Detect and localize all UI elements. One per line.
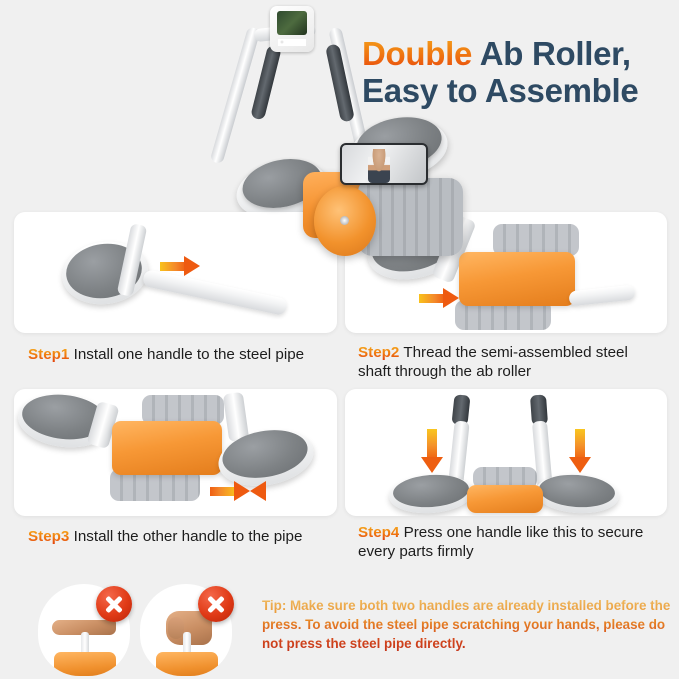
step1-steel-pipe	[142, 269, 288, 316]
step-4-caption: Step4 Press one handle like this to secu…	[358, 523, 663, 562]
step-3-card	[14, 389, 337, 516]
infographic-page: Double Ab Roller, Easy to Assemble	[0, 0, 679, 679]
step-1-text: Install one handle to the steel pipe	[74, 346, 305, 363]
step2-roller-core	[459, 252, 575, 306]
step4-arrow-down-left-icon	[421, 429, 443, 475]
step3-roller-core	[112, 421, 222, 475]
red-x-badge-icon-1	[96, 586, 132, 622]
hero-title-line-1: Double Ab Roller,	[362, 36, 667, 73]
step-4-text: Press one handle like this to secure eve…	[358, 524, 643, 560]
step-1-tag: Step1	[28, 346, 69, 363]
hero-title-line-2: Easy to Assemble	[362, 73, 667, 110]
step-2-text: Thread the semi-assembled steel shaft th…	[358, 344, 628, 380]
counter-buttons	[278, 39, 306, 46]
step-4-card	[345, 389, 667, 516]
step-2-caption: Step2 Thread the semi-assembled steel sh…	[358, 343, 663, 382]
step4-roller-core	[467, 485, 543, 513]
step2-steel-pipe	[568, 285, 635, 307]
step-3-tag: Step3	[28, 528, 69, 545]
warning-roller-base-1	[54, 652, 116, 676]
step-1-caption: Step1 Install one handle to the steel pi…	[28, 345, 338, 364]
lcd-screen	[277, 11, 307, 35]
red-x-badge-icon-2	[198, 586, 234, 622]
hero-arm-left	[210, 26, 261, 164]
step-3-text: Install the other handle to the pipe	[74, 528, 303, 545]
warning-roller-base-2	[156, 652, 218, 676]
hero-title-accent-word: Double	[362, 35, 472, 72]
tip-text: Tip: Make sure both two handles are alre…	[262, 596, 672, 653]
phone-holder-with-phone	[340, 143, 428, 185]
hero-wheel-side-cap	[314, 186, 376, 256]
phone-screen-figure	[368, 149, 390, 183]
step3-arrow-left-icon	[210, 481, 252, 501]
step-3-caption: Step3 Install the other handle to the pi…	[28, 527, 338, 546]
hero-title: Double Ab Roller, Easy to Assemble	[362, 36, 667, 110]
hero-title-line-1-rest: Ab Roller,	[480, 35, 631, 72]
step2-arrow-right-icon	[419, 288, 461, 308]
step-2-tag: Step2	[358, 344, 399, 361]
hero-grip-left	[250, 44, 282, 120]
digital-counter-display	[270, 6, 314, 52]
step-4-tag: Step4	[358, 524, 399, 541]
step-1-card	[14, 212, 337, 333]
step4-arrow-down-right-icon	[569, 429, 591, 475]
